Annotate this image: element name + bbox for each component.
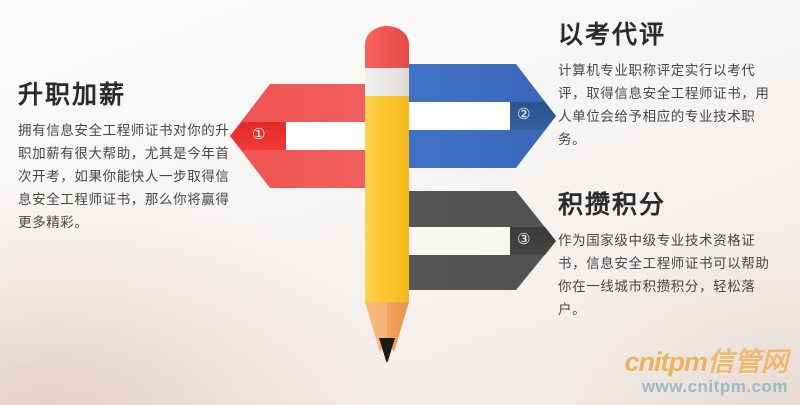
callout-title-2: 以考代评	[558, 22, 770, 50]
arrow-badge-tip-red	[230, 122, 252, 150]
watermark-url: www.cnitpm.com	[624, 376, 788, 397]
watermark-brand-en: cnitpm	[624, 347, 707, 377]
watermark-brand-cn: 信管网	[707, 347, 788, 377]
watermark-brand: cnitpm信管网	[624, 349, 788, 376]
pencil-body	[365, 96, 409, 302]
infographic-poster: ① ②	[0, 0, 800, 405]
callout-text-3: 积攒积分 作为国家级中级专业技术资格证书，信息安全工程师证书可以帮助你在一线城市…	[558, 192, 770, 321]
callout-text-1: 升职加薪 拥有信息安全工程师证书对你的升职加薪有很大帮助，尤其是今年首次开考，如…	[18, 82, 230, 235]
watermark: cnitpm信管网 www.cnitpm.com	[624, 349, 788, 397]
pencil-illustration	[362, 22, 412, 362]
arrow-number-2: ②	[517, 107, 530, 122]
pencil-graphite-tip	[379, 338, 395, 362]
callout-title-3: 积攒积分	[558, 192, 770, 220]
arrow-slot-blue	[404, 102, 510, 130]
pencil-eraser	[365, 26, 409, 68]
callout-body-1: 拥有信息安全工程师证书对你的升职加薪有很大帮助，尤其是今年首次开考，如果你能快人…	[18, 119, 230, 235]
callout-body-2: 计算机专业职称评定实行以考代评，取得信息安全工程师证书，用人单位会给予相应的专业…	[558, 59, 770, 152]
arrow-callout-2: ②	[404, 60, 558, 172]
arrow-slot-gray	[404, 227, 510, 255]
callout-title-1: 升职加薪	[18, 82, 230, 110]
arrow-shape-gray	[404, 188, 558, 293]
arrow-shape-blue	[404, 60, 558, 172]
pencil-ferrule	[365, 68, 409, 96]
arrow-callout-3: ③	[404, 188, 558, 293]
arrow-number-3: ③	[517, 232, 530, 247]
arrow-number-1: ①	[252, 127, 265, 142]
callout-body-3: 作为国家级中级专业技术资格证书，信息安全工程师证书可以帮助你在一线城市积攒积分，…	[558, 229, 770, 322]
pencil-shape	[362, 22, 412, 362]
callout-text-2: 以考代评 计算机专业职称评定实行以考代评，取得信息安全工程师证书，用人单位会给予…	[558, 22, 770, 151]
